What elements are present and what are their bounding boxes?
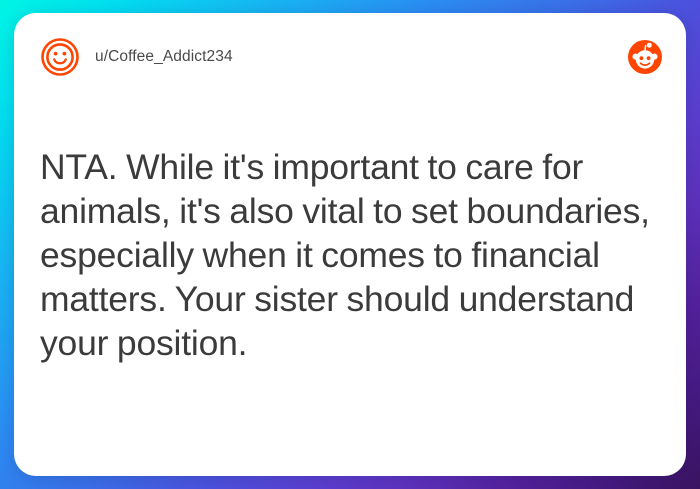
- smiley-face-avatar-icon: [40, 37, 80, 77]
- quote-body-text: NTA. While it's important to care for an…: [40, 145, 656, 365]
- reddit-quote-card: u/Coffee_Addict234 NTA. While it's impor…: [14, 13, 686, 476]
- reddit-snoo-logo-icon[interactable]: [628, 40, 662, 74]
- username-label: u/Coffee_Addict234: [95, 48, 233, 66]
- card-header: u/Coffee_Addict234: [14, 13, 686, 101]
